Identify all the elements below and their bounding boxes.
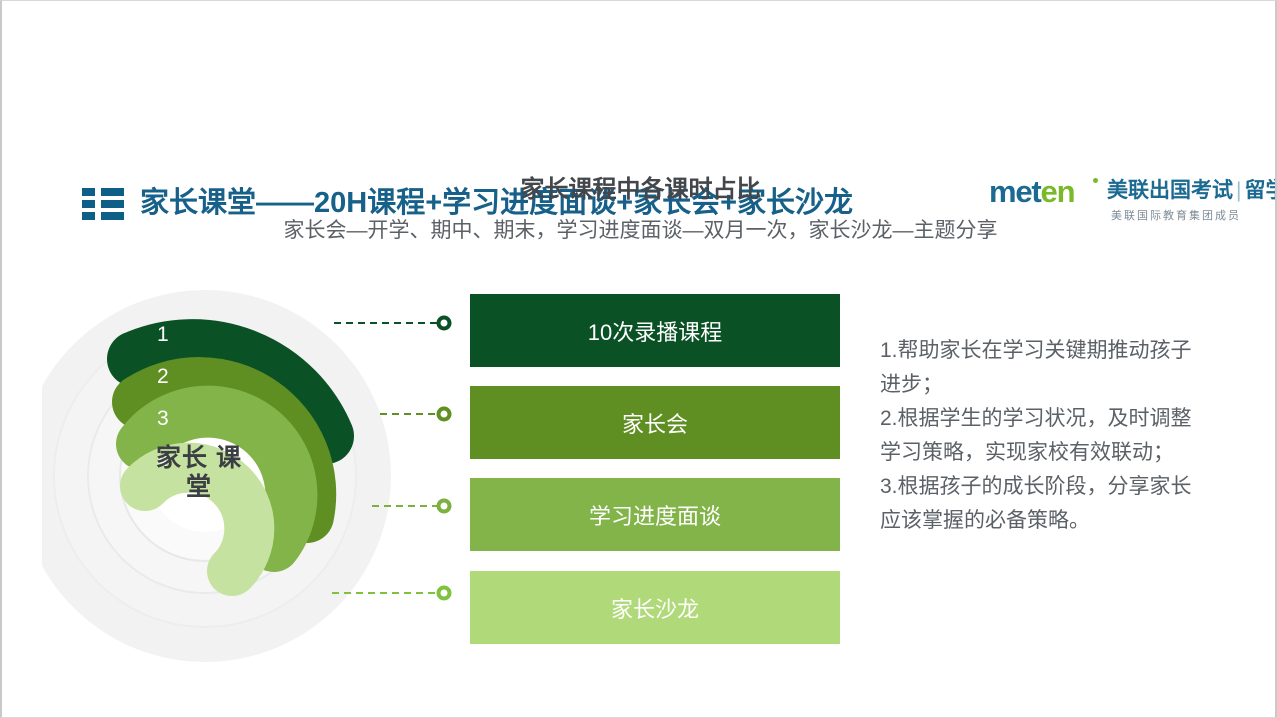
notes-text: 1.帮助家长在学习关键期推动孩子进步； 2.根据学生的学习状况，及时调整学习策略… (880, 334, 1202, 538)
category-bar-label: 学习进度面谈 (589, 499, 721, 531)
wheel-number-2: 2 (157, 365, 169, 388)
wheel-number-1: 1 (157, 323, 169, 346)
connector-dot-3 (439, 501, 450, 512)
connector-dot-1 (439, 318, 450, 329)
connectors-svg (302, 286, 482, 626)
connector-group (302, 286, 482, 626)
connector-dot-4 (439, 588, 450, 599)
category-bar-label: 家长沙龙 (611, 592, 699, 624)
category-bar-4[interactable]: 家长沙龙 (470, 571, 840, 644)
connector-dot-2 (439, 409, 450, 420)
section-description: 家长会—开学、期中、期末，学习进度面谈—双月一次，家长沙龙—主题分享 (2, 214, 1277, 244)
section-subtitle: 家长课程中各课时占比 (2, 169, 1277, 204)
presentation-slide: 家长课堂——20H课程+学习进度面谈+家长会+家长沙龙 meten 美联出国考试… (0, 0, 1277, 718)
slide-header: 家长课堂——20H课程+学习进度面谈+家长会+家长沙龙 meten 美联出国考试… (2, 89, 1277, 145)
category-bar-label: 10次录播课程 (588, 315, 722, 347)
category-bar-2[interactable]: 家长会 (470, 386, 840, 459)
category-bar-3[interactable]: 学习进度面谈 (470, 478, 840, 551)
wheel-center-label: 家长 课堂 (154, 444, 244, 502)
category-bar-label: 家长会 (622, 407, 688, 439)
category-bar-1[interactable]: 10次录播课程 (470, 294, 840, 367)
wheel-number-3: 3 (157, 407, 169, 430)
